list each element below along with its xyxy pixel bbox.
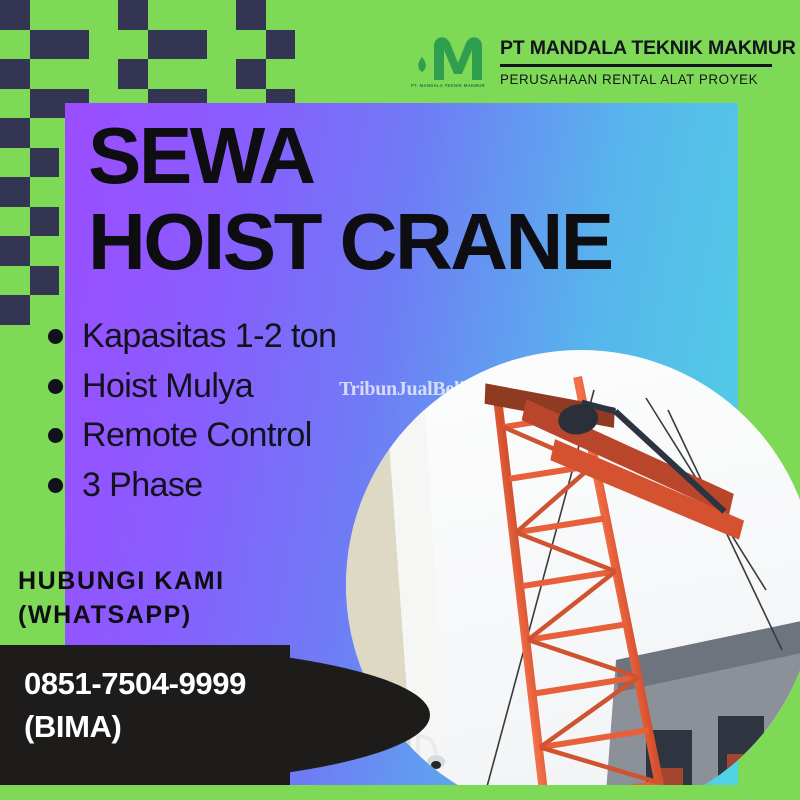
bullet-dot-icon [48,379,63,394]
poster-canvas: PT. MANDALA TEKNIK MAKMUR PT MANDALA TEK… [0,0,800,800]
feature-label: 3 Phase [82,467,203,504]
phone-number-line-1: 0851-7504-9999 [24,663,354,706]
checker-cell [30,207,60,237]
headline-line-1: SEWA [88,118,708,194]
brand-divider [500,64,772,67]
list-item: Kapasitas 1-2 ton [48,318,468,355]
feature-list: Kapasitas 1-2 tonHoist MulyaRemote Contr… [48,318,468,517]
phone-number-line-2: (BIMA) [24,706,354,749]
feature-label: Remote Control [82,417,312,454]
feature-label: Hoist Mulya [82,368,253,405]
checker-cell [0,59,30,89]
checker-cell [30,148,60,178]
checker-cell [0,177,30,207]
checker-cell [0,236,30,266]
checker-cell [0,118,30,148]
bottom-green-strip [0,785,800,800]
checker-cell [30,266,60,296]
company-logo: PT. MANDALA TEKNIK MAKMUR [404,30,492,102]
brand-header: PT. MANDALA TEKNIK MAKMUR PT MANDALA TEK… [404,30,776,108]
company-tagline: PERUSAHAAN RENTAL ALAT PROYEK [500,72,796,87]
mandala-m-logo-icon [404,30,492,86]
list-item: Remote Control [48,417,468,454]
checker-cell [266,30,296,60]
checker-cell [118,0,148,30]
contact-heading-line-1: HUBUNGI KAMI [18,565,225,599]
company-name: PT MANDALA TEKNIK MAKMUR [500,37,796,60]
checker-cell [30,30,89,60]
contact-heading-line-2: (WHATSAPP) [18,599,225,633]
page-title: SEWA HOIST CRANE [88,118,708,280]
checker-cell [236,59,266,89]
bullet-dot-icon [48,478,63,493]
bullet-dot-icon [48,428,63,443]
list-item: 3 Phase [48,467,468,504]
logo-caption: PT. MANDALA TEKNIK MAKMUR [404,83,492,89]
checker-cell [118,59,148,89]
contact-heading: HUBUNGI KAMI (WHATSAPP) [18,565,225,633]
list-item: Hoist Mulya [48,368,468,405]
headline-line-2: HOIST CRANE [88,204,708,280]
phone-number[interactable]: 0851-7504-9999 (BIMA) [24,663,354,749]
checker-cell [236,0,266,30]
checker-cell [0,0,30,30]
checker-cell [148,30,207,60]
bullet-dot-icon [48,329,63,344]
checker-cell [0,295,30,325]
feature-label: Kapasitas 1-2 ton [82,318,336,355]
